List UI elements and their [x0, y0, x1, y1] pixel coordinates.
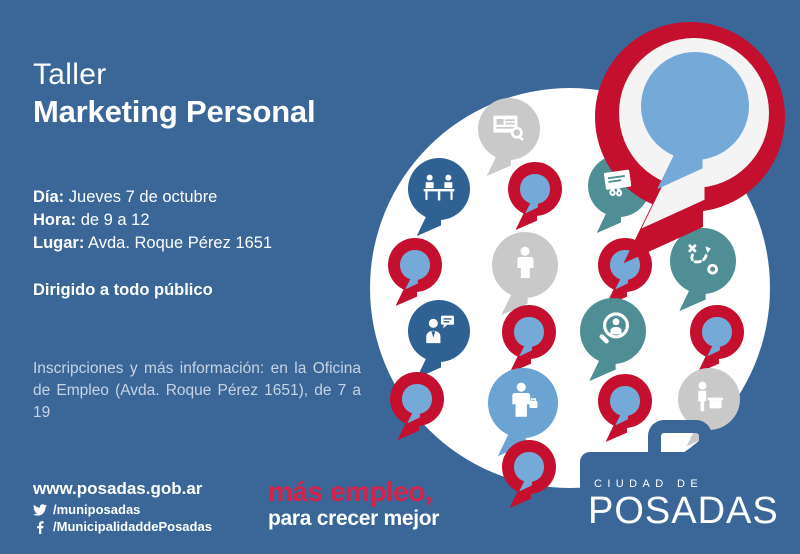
detail-label-time: Hora: [33, 211, 76, 229]
city-logo: CIUDAD DE POSADAS [588, 478, 779, 532]
certificate-pin [478, 98, 540, 160]
mini-pin-icon [520, 174, 549, 203]
candidate-search-icon [595, 311, 631, 352]
slogan: más empleo, para crecer mejor [268, 477, 439, 531]
businesswoman-icon [504, 381, 543, 425]
mini-pin-icon [702, 317, 731, 346]
businesswoman-pin [488, 368, 558, 438]
twitter-bird-icon [33, 504, 47, 516]
hero-pin-inner-blue [641, 52, 749, 160]
mini-pin-pin [502, 440, 556, 494]
mini-pin-pin [502, 305, 556, 359]
meeting-table-icon [422, 170, 456, 209]
pin-head [390, 372, 444, 426]
pin-head [690, 305, 744, 359]
social-links: /muniposadas /MunicipalidaddePosadas [33, 501, 212, 535]
facebook-f-icon [33, 520, 47, 534]
pin-head [502, 440, 556, 494]
detail-label-place: Lugar: [33, 234, 84, 252]
mini-pin-pin [690, 305, 744, 359]
pin-head [502, 305, 556, 359]
pin-head [508, 162, 562, 216]
hero-pin-inner-head [641, 52, 749, 160]
detail-row-place: Lugar: Avda. Roque Pérez 1651 [33, 232, 272, 255]
person-standing-icon [507, 245, 543, 286]
person-speaking-pin [408, 300, 470, 362]
website-url[interactable]: www.posadas.gob.ar [33, 479, 202, 499]
pin-head [670, 228, 736, 294]
page-title: Marketing Personal [33, 94, 315, 130]
mini-pin-pin [388, 238, 442, 292]
slogan-line-2: para crecer mejor [268, 507, 439, 531]
pin-head [388, 238, 442, 292]
detail-row-time: Hora: de 9 a 12 [33, 209, 272, 232]
pin-head [580, 298, 646, 364]
worker-icon [692, 380, 726, 419]
detail-value-time: de 9 a 12 [81, 211, 150, 229]
diploma-icon [602, 167, 636, 206]
facebook-handle: /MunicipalidaddePosadas [53, 518, 212, 535]
mini-pin-icon [514, 452, 543, 481]
detail-value-place: Avda. Roque Pérez 1651 [88, 234, 272, 252]
mini-pin-icon [402, 384, 431, 413]
page-kicker: Taller [33, 58, 107, 92]
candidate-search-pin [580, 298, 646, 364]
content-column: Taller Marketing Personal Día: Jueves 7 … [0, 0, 360, 554]
flyer-poster: Taller Marketing Personal Día: Jueves 7 … [0, 0, 800, 554]
mini-pin-icon [610, 386, 639, 415]
facebook-link[interactable]: /MunicipalidaddePosadas [33, 518, 212, 535]
person-standing-pin [492, 232, 558, 298]
mini-pin-icon [514, 317, 543, 346]
strategy-pin [670, 228, 736, 294]
pin-collage-graphic [330, 0, 800, 554]
event-details: Día: Jueves 7 de octubre Hora: de 9 a 12… [33, 186, 272, 255]
twitter-link[interactable]: /muniposadas [33, 501, 212, 518]
mini-pin-pin [508, 162, 562, 216]
certificate-icon [492, 110, 526, 149]
pin-head [488, 368, 558, 438]
registration-info: Inscripciones y más información: en la O… [33, 358, 361, 424]
logo-name: POSADAS [588, 490, 779, 532]
mini-pin-icon [400, 250, 429, 279]
slogan-line-1: más empleo, [268, 477, 439, 507]
pin-head [478, 98, 540, 160]
detail-label-day: Día: [33, 188, 64, 206]
pin-head [408, 158, 470, 220]
detail-value-day: Jueves 7 de octubre [69, 188, 218, 206]
person-speaking-icon [422, 312, 456, 351]
pin-head [408, 300, 470, 362]
meeting-table-pin [408, 158, 470, 220]
detail-row-day: Día: Jueves 7 de octubre [33, 186, 272, 209]
pin-head [492, 232, 558, 298]
mini-pin-pin [390, 372, 444, 426]
twitter-handle: /muniposadas [53, 501, 140, 518]
audience-note: Dirigido a todo público [33, 281, 213, 300]
logo-eyebrow: CIUDAD DE [588, 478, 779, 490]
strategy-icon [685, 241, 721, 282]
